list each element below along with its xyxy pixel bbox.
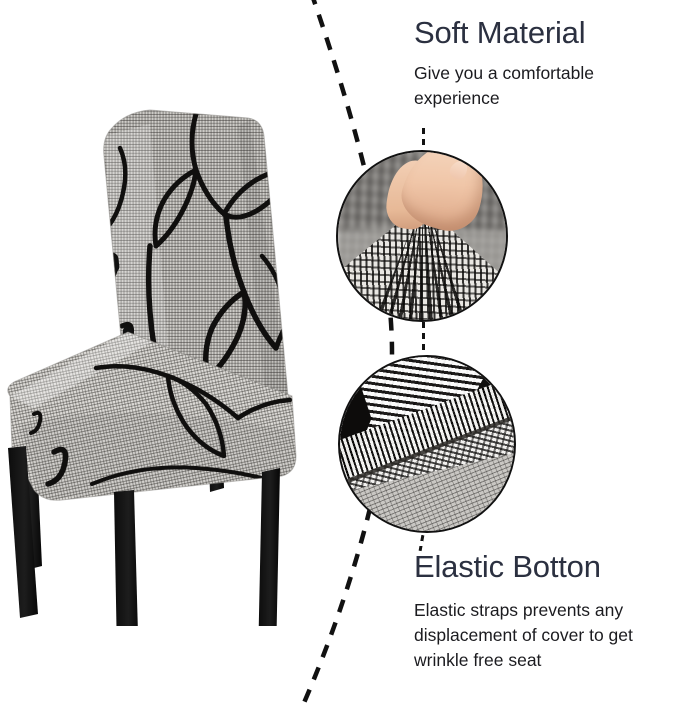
chair-leg-center-front bbox=[114, 490, 140, 626]
detail-photo-elastic-botton bbox=[338, 355, 516, 533]
feature-elastic-botton: Elastic Botton Elastic straps prevents a… bbox=[414, 548, 676, 673]
fingernail-shape bbox=[447, 157, 471, 182]
stem-soft-bottom bbox=[422, 322, 425, 352]
feature-soft-material: Soft Material Give you a comfortable exp… bbox=[414, 14, 676, 111]
elastic-botton-photo-content bbox=[338, 355, 516, 533]
feature-body-elastic-botton: Elastic straps prevents any displacement… bbox=[414, 598, 676, 673]
soft-material-photo-content bbox=[336, 150, 508, 322]
feature-title-elastic-botton: Elastic Botton bbox=[414, 548, 676, 586]
stem-soft-top bbox=[422, 128, 425, 150]
chair-leg-front-right bbox=[258, 468, 280, 626]
feature-title-soft-material: Soft Material bbox=[414, 14, 676, 52]
infographic-canvas: Soft Material Give you a comfortable exp… bbox=[0, 0, 679, 704]
product-chair-image bbox=[0, 96, 300, 626]
detail-photo-soft-material bbox=[336, 150, 508, 322]
feature-body-soft-material: Give you a comfortable experience bbox=[414, 61, 676, 111]
